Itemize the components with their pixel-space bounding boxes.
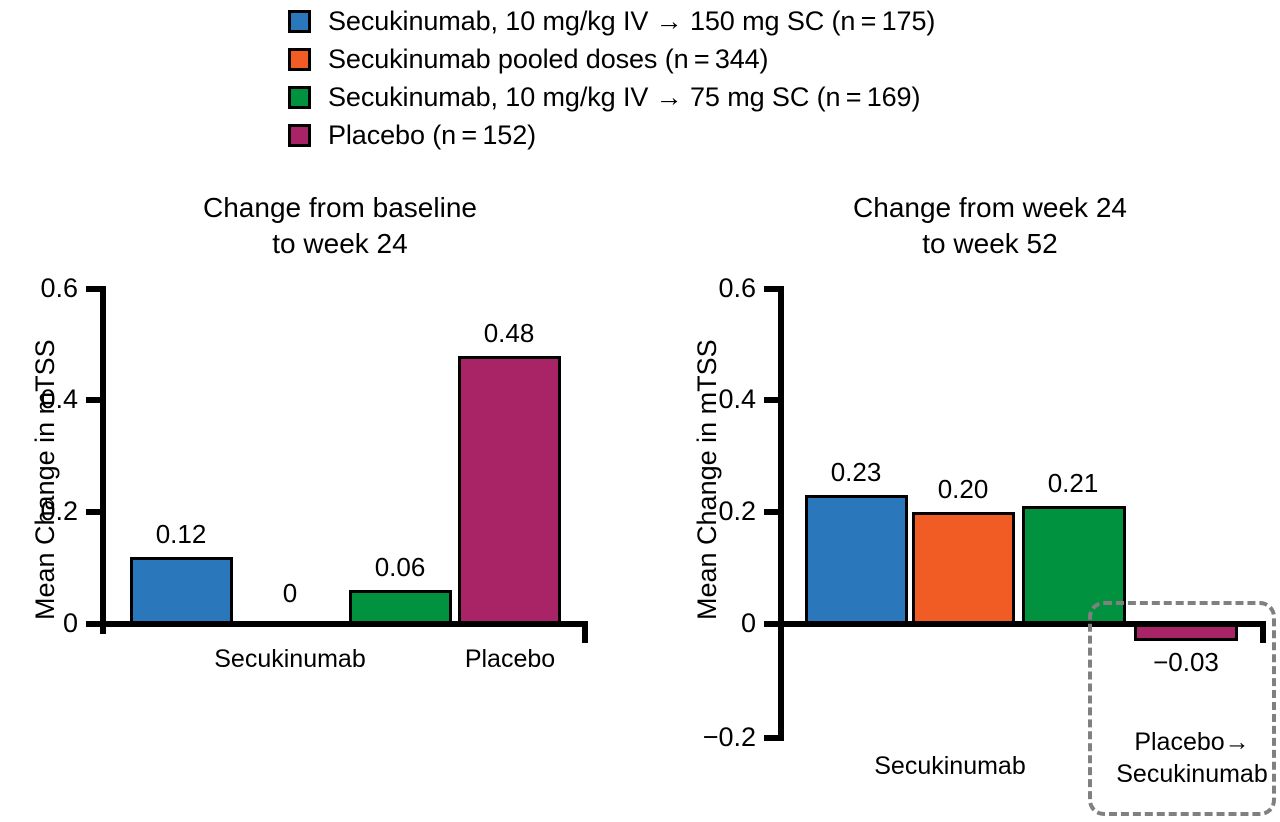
y-tick-mark-0.4 — [86, 397, 106, 403]
y-tick-label-0.4: 0.4 — [0, 384, 78, 415]
y-tick-label-0.6: 0.6 — [0, 273, 78, 304]
x-group-label-secukinumab: Secukinumab — [840, 750, 1060, 782]
y-tick-label-0.4: 0.4 — [640, 384, 756, 415]
callout-dashed-box — [1088, 601, 1276, 816]
bar-secukinumab-75 — [349, 590, 452, 624]
bar-value-secukinumab-150: 0.23 — [796, 457, 916, 488]
x-group-label-secukinumab: Secukinumab — [170, 643, 410, 675]
chart-panel-right: Change from week 24 to week 52 Mean Chan… — [640, 0, 1280, 822]
bar-secukinumab-150 — [805, 495, 908, 624]
bar-value-placebo: 0.48 — [449, 318, 569, 349]
y-tick-label-neg0.2: −0.2 — [640, 722, 756, 753]
y-tick-mark-0 — [764, 621, 784, 627]
chart-panel-left: Change from baseline to week 24 Mean Cha… — [0, 0, 640, 822]
bar-secukinumab-pooled — [912, 512, 1015, 624]
bar-secukinumab-150 — [130, 557, 233, 624]
bar-value-secukinumab-75: 0.06 — [340, 552, 460, 583]
y-tick-mark-0.2 — [86, 509, 106, 515]
y-axis-title-right: Mean Change in mTSS — [692, 339, 723, 620]
y-tick-label-0: 0 — [0, 608, 78, 639]
y-axis-spine-left — [100, 286, 106, 634]
y-axis-title-left: Mean Change in mTSS — [30, 339, 61, 620]
y-tick-mark-neg0.2 — [764, 735, 784, 741]
bar-value-secukinumab-pooled: 0 — [230, 578, 350, 609]
chart-title-left: Change from baseline to week 24 — [120, 190, 560, 262]
y-tick-mark-0.4 — [764, 397, 784, 403]
bar-value-secukinumab-pooled: 0.20 — [903, 474, 1023, 505]
bar-placebo — [458, 356, 561, 624]
y-tick-label-0: 0 — [640, 608, 756, 639]
y-tick-label-0.2: 0.2 — [640, 496, 756, 527]
y-tick-mark-0.6 — [86, 286, 106, 292]
y-tick-label-0.2: 0.2 — [0, 496, 78, 527]
y-tick-mark-0 — [86, 621, 106, 627]
bar-value-secukinumab-150: 0.12 — [121, 519, 241, 550]
chart-title-right: Change from week 24 to week 52 — [770, 190, 1210, 262]
y-tick-mark-0.2 — [764, 509, 784, 515]
x-axis-end-tick-left — [582, 621, 588, 643]
bar-value-secukinumab-75: 0.21 — [1013, 468, 1133, 499]
x-group-label-placebo: Placebo — [420, 643, 600, 675]
y-tick-mark-0.6 — [764, 286, 784, 292]
y-tick-label-0.6: 0.6 — [640, 273, 756, 304]
